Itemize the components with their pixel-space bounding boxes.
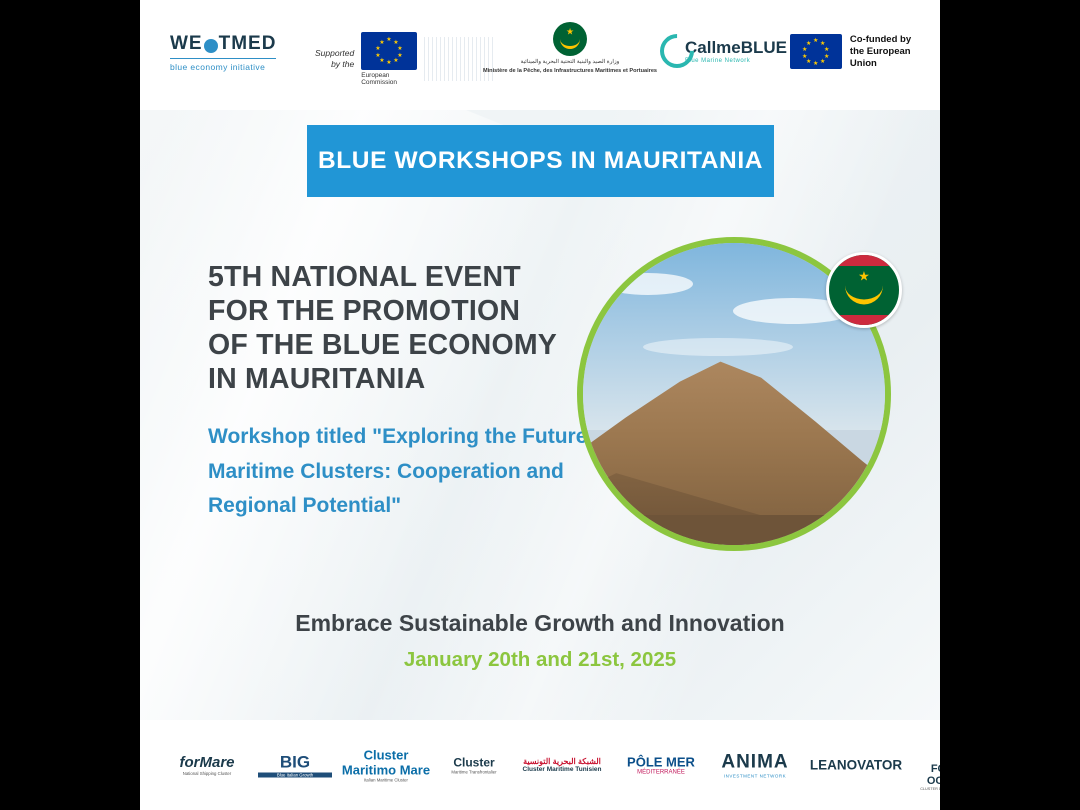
cofunded-line2: the European Union xyxy=(850,46,940,70)
westmed-divider xyxy=(170,58,276,59)
ministry-arabic: وزارة الصيد والبنية التحتية البحرية والم… xyxy=(480,59,660,66)
banner-title: BLUE WORKSHOPS IN MAURITANIA xyxy=(318,147,763,175)
ministry-emblem-icon: ★ xyxy=(553,22,587,56)
partner-logo: Cluster Maritimo Mare Italian Maritime C… xyxy=(338,748,434,783)
event-headline: 5TH NATIONAL EVENT FOR THE PROMOTION OF … xyxy=(208,260,628,396)
partner-logo-bar: forMare National Shipping Cluster BIG Bl… xyxy=(140,720,940,810)
logo-ministry: ★ وزارة الصيد والبنية التحتية البحرية وا… xyxy=(480,22,660,75)
westmed-word-right: TMED xyxy=(219,33,277,55)
westmed-dot-icon xyxy=(204,39,218,53)
screenshot-root: WE TMED blue economy initiative Supporte… xyxy=(0,0,1080,810)
partner-sub: Italian Maritime Cluster xyxy=(338,778,434,783)
partner-logo: LEANOVATOR xyxy=(806,758,906,773)
logo-cofunded-eu: ★★★ ★★★ ★★★ ★ Co-funded by the European … xyxy=(790,34,940,70)
logo-westmed: WE TMED blue economy initiative xyxy=(170,33,276,72)
partner-logo: PÔLE MER MÉDITERRANÉE xyxy=(618,755,704,776)
cloud-icon xyxy=(643,338,793,356)
partner-logo: BIG Blue Italian Growth xyxy=(258,753,332,778)
star-icon: ★ xyxy=(858,270,870,283)
eu-stars-icon: ★★★ ★★★ ★★★ ★ xyxy=(376,38,402,64)
partner-sub: CLUSTER DA ECONOMIA DO MAR xyxy=(908,787,940,791)
tagline: Embrace Sustainable Growth and Innovatio… xyxy=(140,610,940,637)
partner-sub: Blue Italian Growth xyxy=(258,773,332,778)
workshop-subtitle: Workshop titled "Exploring the Future of… xyxy=(208,420,618,524)
partner-name: Cluster Maritimo Mare xyxy=(338,748,434,778)
westmed-wordmark: WE TMED xyxy=(170,33,276,55)
ec-caption-2: Commission xyxy=(361,79,417,86)
supported-line1: Supported xyxy=(315,48,354,59)
partner-sub: الشبكة البحرية التونسية xyxy=(512,757,612,766)
callmeblue-circle-icon xyxy=(653,27,701,75)
flag-stripe-top xyxy=(829,255,899,266)
cofunded-line1: Co-funded by xyxy=(850,34,940,46)
partner-logo: Cluster Maritime Transfrontalier xyxy=(438,756,510,775)
ec-caption-1: European xyxy=(361,72,417,79)
poster-body: BLUE WORKSHOPS IN MAURITANIA 5TH NATIONA… xyxy=(140,110,940,720)
partner-name: Cluster xyxy=(438,756,510,770)
flag-stripe-bottom xyxy=(829,315,899,326)
callmeblue-sub: Blue Marine Network xyxy=(685,58,787,64)
banner-title-bar: BLUE WORKSHOPS IN MAURITANIA xyxy=(307,125,774,197)
westmed-tagline: blue economy initiative xyxy=(170,62,276,72)
cloud-icon xyxy=(603,273,693,295)
cofunded-eu-flag-icon: ★★★ ★★★ ★★★ ★ xyxy=(790,34,842,69)
partner-name: FORUM OCEANO xyxy=(908,763,940,787)
partner-name: forMare xyxy=(164,754,250,771)
eu-flag-icon: ★★★ ★★★ ★★★ ★ xyxy=(361,32,417,70)
partner-name: BIG xyxy=(258,753,332,773)
cofunded-eu-stars-icon: ★★★ ★★★ ★★★ ★ xyxy=(803,39,829,65)
top-logo-bar: WE TMED blue economy initiative Supporte… xyxy=(140,0,940,110)
partner-sub: Maritime Transfrontalier xyxy=(438,770,510,775)
poster: WE TMED blue economy initiative Supporte… xyxy=(140,0,940,810)
photo-ground xyxy=(583,515,885,545)
supported-line2: by the xyxy=(315,59,354,70)
event-dates: January 20th and 21st, 2025 xyxy=(140,648,940,672)
partner-logo: ANIMA INVESTMENT NETWORK xyxy=(710,752,800,779)
partner-logo: FORUM OCEANO CLUSTER DA ECONOMIA DO MAR xyxy=(908,739,940,791)
partner-name: PÔLE MER xyxy=(618,755,704,770)
ministry-french: Ministère de la Pêche, des Infrastructur… xyxy=(480,68,660,75)
partner-name: Cluster Maritime Tunisien xyxy=(512,766,612,773)
partner-logo: الشبكة البحرية التونسية Cluster Maritime… xyxy=(512,757,612,773)
partner-name: LEANOVATOR xyxy=(806,758,906,773)
partner-sub: MÉDITERRANÉE xyxy=(618,770,704,776)
partner-logo: forMare National Shipping Cluster xyxy=(164,754,250,776)
callmeblue-wordmark: CallmeBLUE xyxy=(685,38,787,58)
partner-name: ANIMA xyxy=(710,752,800,774)
partner-sub: INVESTMENT NETWORK xyxy=(710,774,800,779)
mauritania-flag-badge: ★ xyxy=(826,252,902,328)
westmed-word-left: WE xyxy=(170,33,203,55)
logo-european-commission: Supported by the ★★★ ★★★ ★★★ ★ European xyxy=(315,32,494,87)
logo-callmeblue: CallmeBLUE Blue Marine Network xyxy=(660,34,787,68)
partner-sub: National Shipping Cluster xyxy=(164,771,250,776)
